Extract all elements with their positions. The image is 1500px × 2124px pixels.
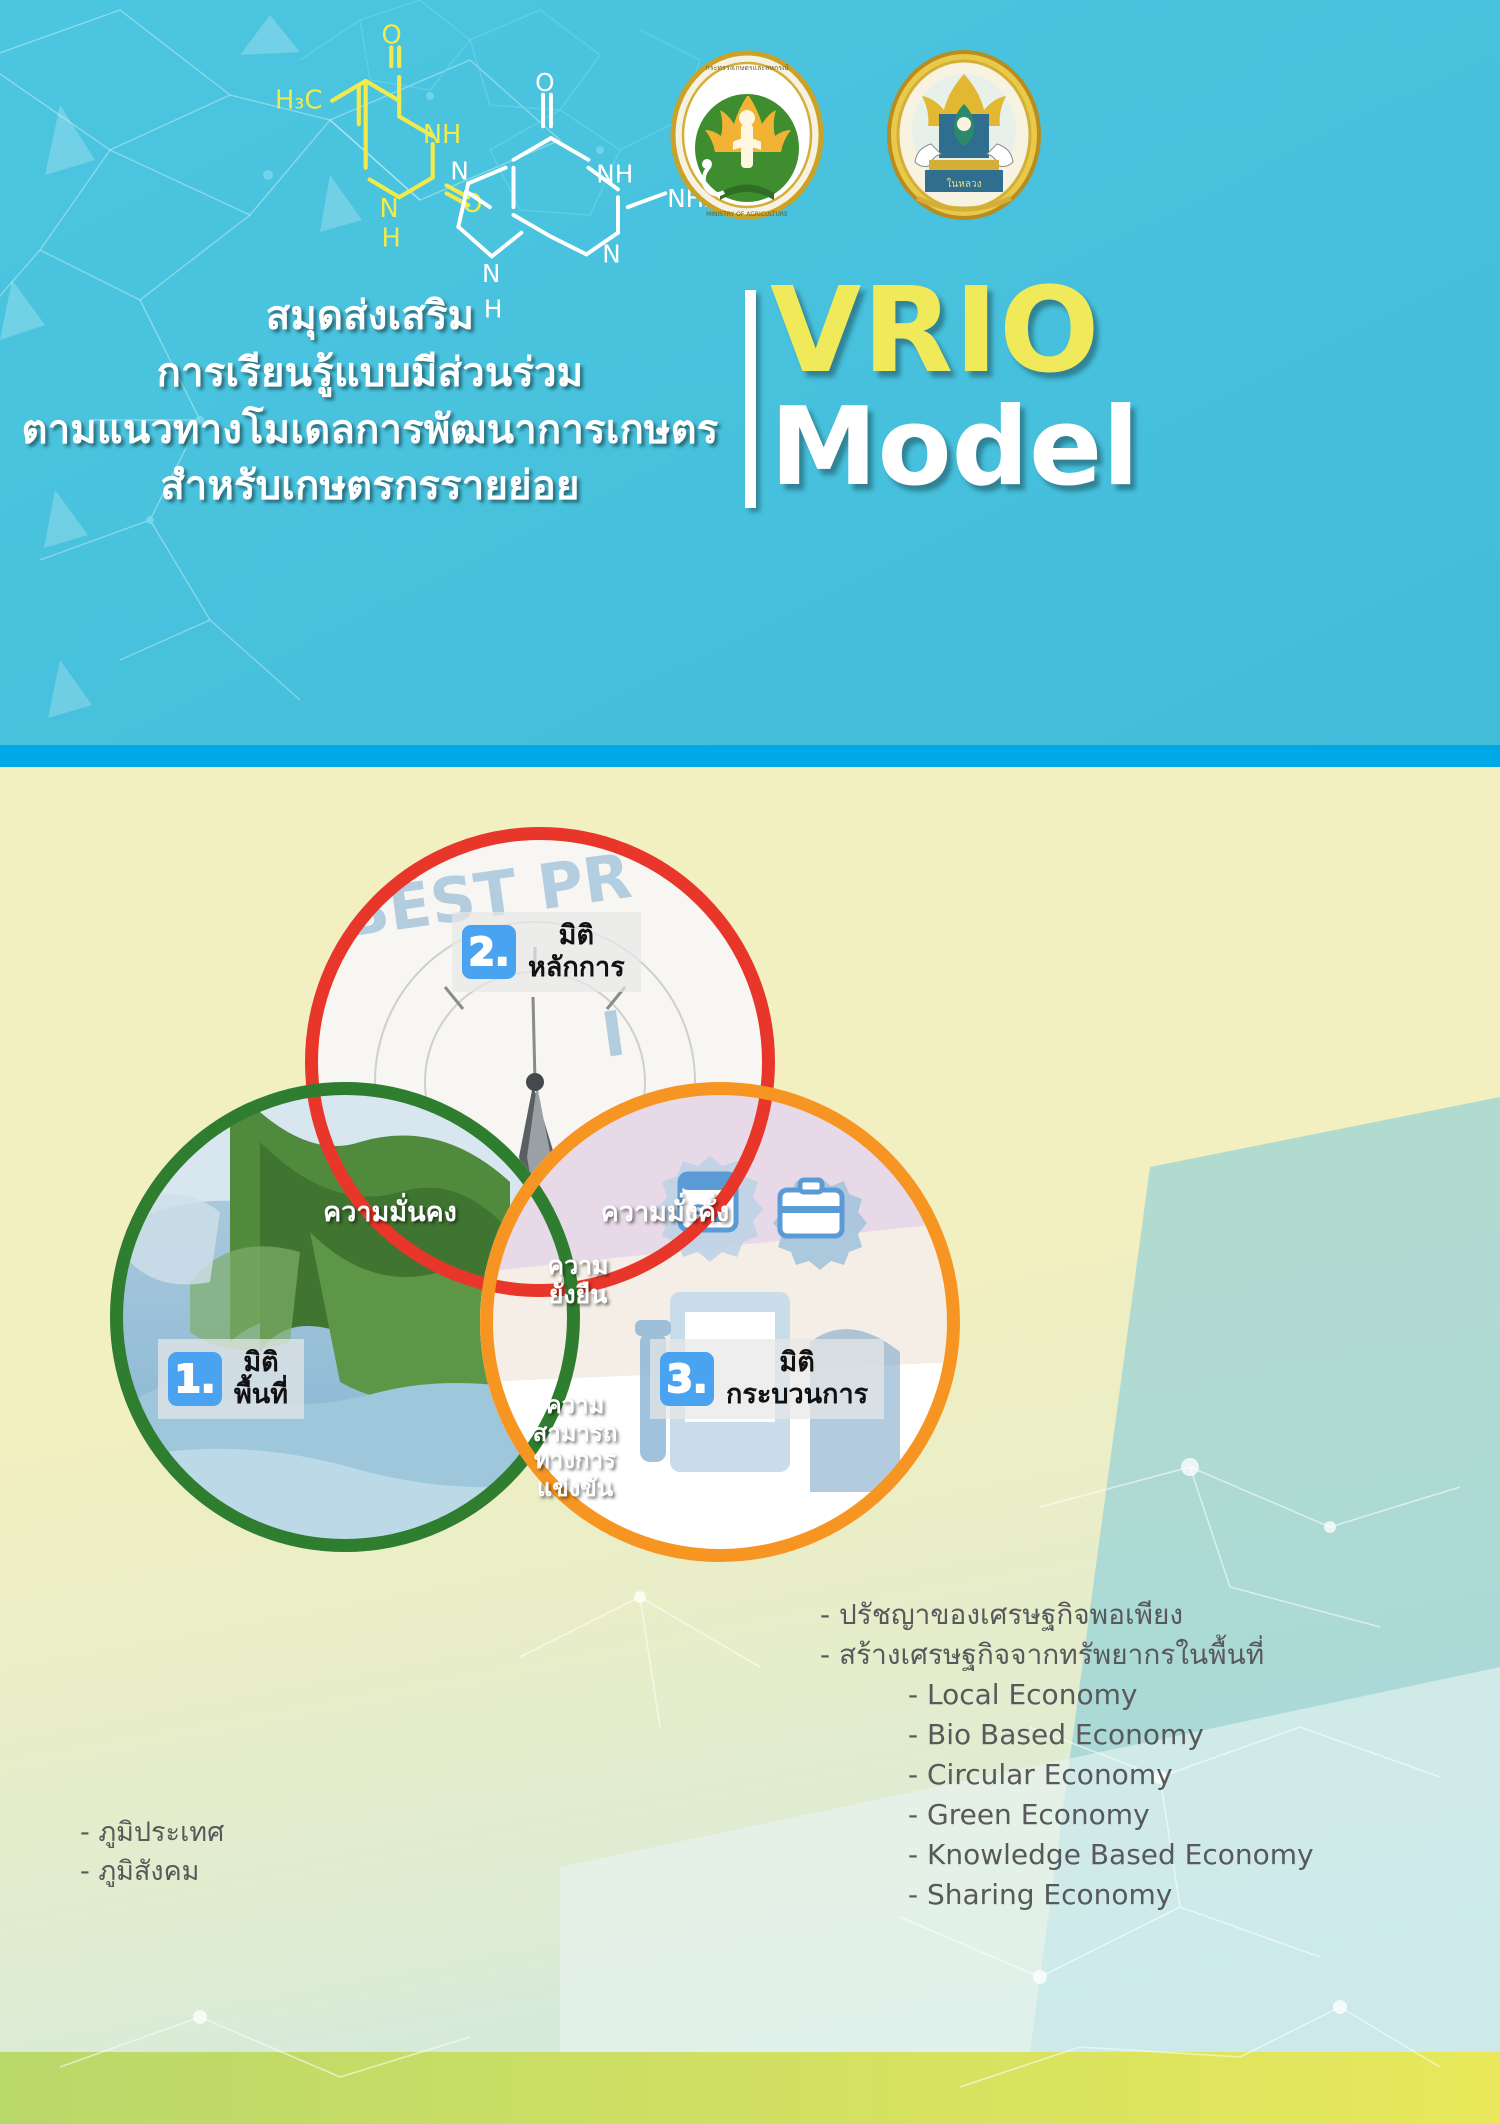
brand-lockup: VRIO Model (770, 276, 1490, 504)
overlap-label-security: ความมั่นคง (260, 1197, 520, 1228)
dimension-number-1: 1. (168, 1352, 222, 1406)
molecule-label-N3: N (450, 157, 468, 186)
compete-line-4: แข่งขัน (500, 1475, 650, 1503)
list-item: - Bio Based Economy (820, 1715, 1460, 1755)
list-item: - Green Economy (820, 1795, 1460, 1835)
molecule-label-H: H (381, 224, 400, 254)
dimension-number-2: 2. (462, 925, 516, 979)
overlap-label-sustainability: ความ ยั่งยืน (508, 1252, 648, 1310)
dimension-chip-area: 1. มิติ พื้นที่ (158, 1339, 304, 1419)
sustain-line-1: ความ (508, 1252, 648, 1281)
list-item: - ภูมิสังคม (80, 1852, 380, 1891)
list-item: - ภูมิประเทศ (80, 1813, 380, 1852)
dimension-label-2-line1: มิติ (528, 920, 625, 952)
list-item: - Circular Economy (820, 1755, 1460, 1795)
ministry-of-agriculture-seal: กระทรวงเกษตรและสหกรณ์ MINISTRY OF AGRICU… (660, 48, 835, 223)
molecule-label-NH: NH (423, 120, 461, 150)
dimension-label-2-line2: หลักการ (528, 952, 625, 984)
venn-diagram: BEST PR I (110, 827, 970, 1567)
svg-text:ในหลวง: ในหลวง (947, 178, 982, 190)
molecule-label-H3C: H₃C (275, 86, 322, 116)
compete-line-3: ทางการ (500, 1447, 650, 1475)
title-line-3: ตามแนวทางโมเดลการพัฒนาการเกษตร (20, 402, 720, 459)
poster-page: O H₃C NH O N H (0, 0, 1500, 2124)
compete-line-2: สามารถ (500, 1420, 650, 1448)
area-dimension-list: - ภูมิประเทศ - ภูมิสังคม (80, 1813, 380, 1891)
molecule-label-NH2: NH (596, 159, 633, 188)
molecule-label-O3: O (535, 68, 554, 97)
list-item: - สร้างเศรษฐกิจจากทรัพยากรในพื้นที่ (820, 1635, 1460, 1675)
dimension-label-3-line1: มิติ (726, 1347, 868, 1379)
molecule-label-N4: N (482, 259, 500, 288)
svg-text:MINISTRY OF AGRICULTURE: MINISTRY OF AGRICULTURE (706, 211, 788, 218)
list-item: - ปรัชญาของเศรษฐกิจพอเพียง (820, 1595, 1460, 1635)
title-line-4: สำหรับเกษตรกรรายย่อย (20, 458, 720, 515)
poster-title: สมุดส่งเสริม การเรียนรู้แบบมีส่วนร่วม ตา… (20, 288, 720, 515)
list-item: - Sharing Economy (820, 1875, 1460, 1915)
sustain-line-2: ยั่งยืน (508, 1281, 648, 1310)
molecule-label-O: O (381, 21, 401, 51)
dimension-label-1-line2: พื้นที่ (234, 1379, 288, 1411)
dimension-chip-principle: 2. มิติ หลักการ (452, 912, 641, 992)
dimension-label-1: มิติ พื้นที่ (234, 1347, 288, 1411)
title-line-2: การเรียนรู้แบบมีส่วนร่วม (20, 345, 720, 402)
overlap-label-wealth: ความมั่งคั่ง (540, 1197, 790, 1228)
content-area: BEST PR I (0, 767, 1500, 2124)
title-divider-rule (745, 290, 756, 508)
dimension-label-2: มิติ หลักการ (528, 920, 625, 984)
principle-dimension-list: - ปรัชญาของเศรษฐกิจพอเพียง - สร้างเศรษฐก… (820, 1595, 1460, 1915)
title-line-1: สมุดส่งเสริม (20, 288, 720, 345)
brand-model: Model (770, 391, 1490, 504)
list-item: - Local Economy (820, 1675, 1460, 1715)
dimension-label-3-line2: กระบวนการ (726, 1379, 868, 1411)
molecule-label-N2: N (602, 239, 620, 268)
royal-thai-emblem-seal: ในหลวง (877, 48, 1052, 223)
dimension-chip-process: 3. มิติ กระบวนการ (650, 1339, 884, 1419)
overlap-label-competitiveness: ความ สามารถ ทางการ แข่งขัน (500, 1392, 650, 1502)
header-divider-strip (0, 745, 1500, 767)
dimension-number-3: 3. (660, 1352, 714, 1406)
svg-text:กระทรวงเกษตรและสหกรณ์: กระทรวงเกษตรและสหกรณ์ (706, 64, 789, 72)
molecule-label-N: N (379, 194, 398, 224)
header-banner: O H₃C NH O N H (0, 0, 1500, 745)
dimension-label-1-line1: มิติ (234, 1347, 288, 1379)
list-item: - Knowledge Based Economy (820, 1835, 1460, 1875)
compete-line-1: ความ (500, 1392, 650, 1420)
brand-vrio: VRIO (770, 276, 1490, 385)
dimension-label-3: มิติ กระบวนการ (726, 1347, 868, 1411)
